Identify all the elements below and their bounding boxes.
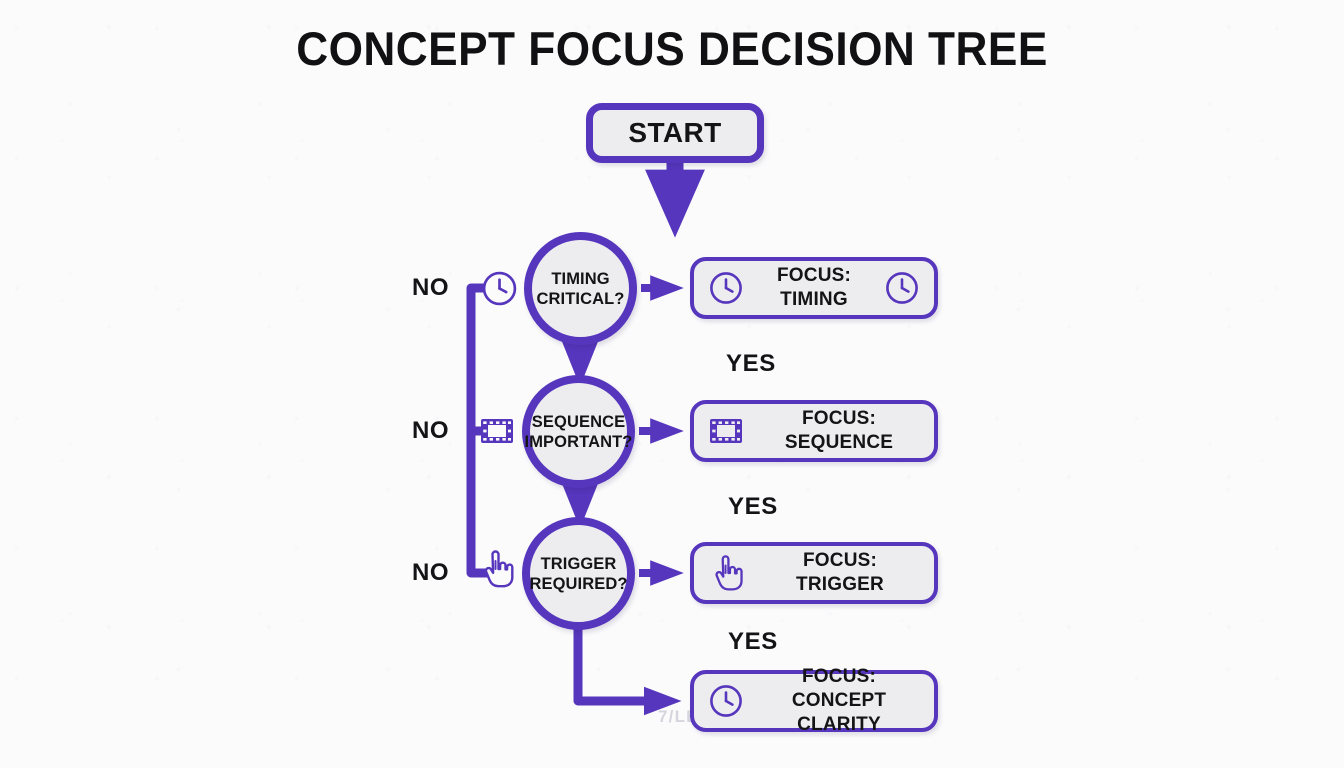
- hand-pointer-icon: [708, 553, 746, 593]
- decision-sequence-no-label: NO: [412, 417, 449, 445]
- start-node[interactable]: START: [586, 103, 764, 163]
- decision-trigger-label: TRIGGER REQUIRED?: [529, 554, 627, 594]
- outcome-focus-sequence[interactable]: FOCUS: SEQUENCE: [690, 400, 938, 462]
- clock-icon: [708, 270, 744, 306]
- decision-sequence-yes-label: YES: [728, 493, 778, 521]
- decision-timing[interactable]: TIMING CRITICAL?: [524, 232, 637, 345]
- outcome-focus-trigger-label: FOCUS: TRIGGER: [760, 549, 920, 597]
- outcome-focus-concept-clarity[interactable]: FOCUS: CONCEPT CLARITY: [690, 670, 938, 732]
- outcome-focus-timing[interactable]: FOCUS: TIMING: [690, 257, 938, 319]
- outcome-focus-concept-clarity-label: FOCUS: CONCEPT CLARITY: [758, 665, 920, 737]
- decision-timing-yes-label: YES: [726, 350, 776, 378]
- clock-icon: [708, 683, 744, 719]
- outcome-focus-sequence-label: FOCUS: SEQUENCE: [758, 407, 920, 455]
- decision-sequence-label: SEQUENCE IMPORTANT?: [525, 412, 633, 452]
- decision-timing-no-label: NO: [412, 274, 449, 302]
- decision-trigger-yes-label: YES: [728, 628, 778, 656]
- hand-pointer-icon: [477, 548, 517, 590]
- clock-icon: [884, 270, 920, 306]
- decision-sequence[interactable]: SEQUENCE IMPORTANT?: [522, 375, 635, 488]
- decision-trigger-no-label: NO: [412, 559, 449, 587]
- edge-trigger-to-concept-clarity: [578, 625, 665, 701]
- decision-timing-label: TIMING CRITICAL?: [537, 269, 625, 309]
- clock-icon: [481, 270, 518, 307]
- decision-trigger[interactable]: TRIGGER REQUIRED?: [522, 517, 635, 630]
- film-strip-icon: [479, 413, 515, 449]
- outcome-focus-trigger[interactable]: FOCUS: TRIGGER: [690, 542, 938, 604]
- diagram-canvas: CONCEPT FOCUS DECISION TREE: [0, 0, 1344, 768]
- outcome-focus-timing-label: FOCUS: TIMING: [758, 264, 870, 312]
- film-strip-icon: [708, 413, 744, 449]
- start-node-label: START: [628, 117, 721, 149]
